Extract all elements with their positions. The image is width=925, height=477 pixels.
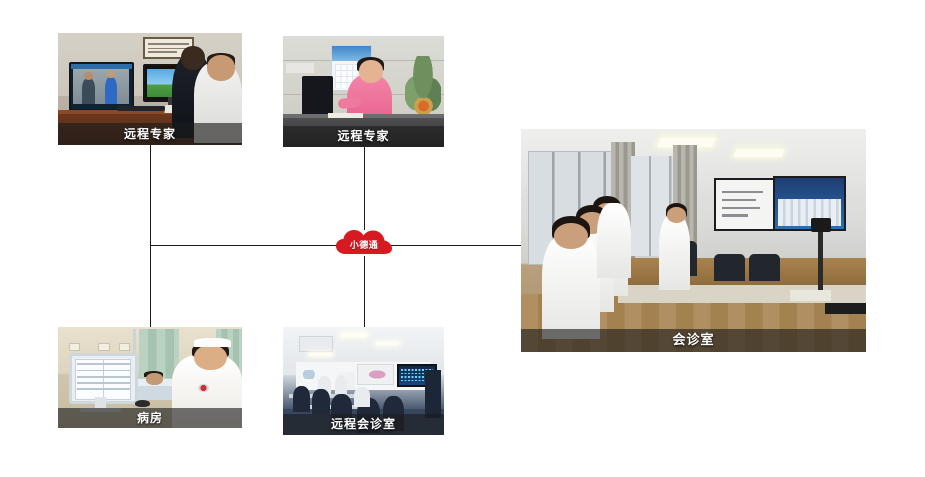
cloud-shape <box>335 228 393 256</box>
node-consultation-room[interactable]: 会诊室 <box>521 129 866 352</box>
node-ward[interactable]: 病房 <box>58 327 242 428</box>
diagram-canvas: 远程专家 远程专家 <box>0 0 925 477</box>
connector-hub-to-ward <box>150 245 151 327</box>
connector-expert2-to-hub <box>364 147 365 230</box>
cloud-hub[interactable]: 小德通 <box>335 228 393 256</box>
node-remote-expert-1[interactable]: 远程专家 <box>58 33 242 145</box>
caption-remote-expert-1: 远程专家 <box>58 123 242 145</box>
caption-consultation-room: 会诊室 <box>521 329 866 352</box>
caption-remote-expert-2: 远程专家 <box>283 126 444 147</box>
connector-hub-to-remote-room <box>364 256 365 327</box>
node-remote-consultation-room[interactable]: 远程会诊室 <box>283 327 444 435</box>
node-remote-expert-2[interactable]: 远程专家 <box>283 36 444 147</box>
caption-remote-consultation-room: 远程会诊室 <box>283 414 444 435</box>
connector-expert1-to-hub <box>150 145 151 246</box>
connector-bus-right <box>383 245 521 246</box>
connector-bus-left <box>150 245 346 246</box>
photo-consultation-room <box>521 129 866 352</box>
caption-ward: 病房 <box>58 408 242 428</box>
